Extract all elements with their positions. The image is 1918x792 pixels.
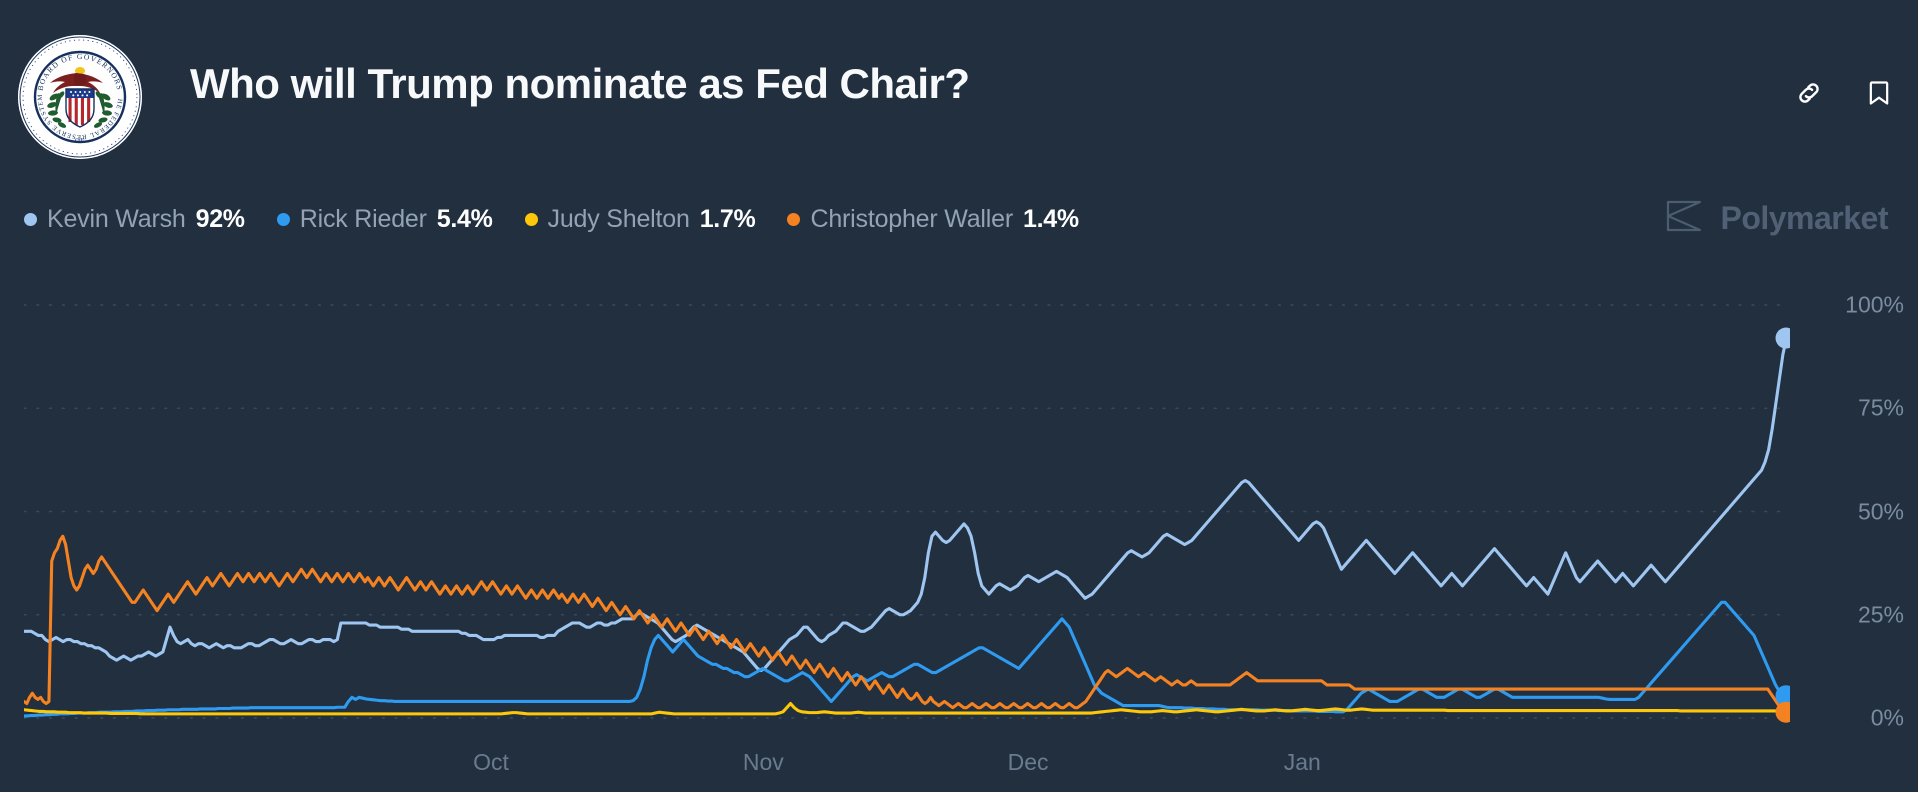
link-icon (1794, 78, 1824, 113)
header-actions (1792, 78, 1896, 112)
legend-value: 1.7% (700, 205, 756, 234)
legend-color-dot (787, 213, 800, 226)
bookmark-icon (1865, 79, 1893, 112)
page-title: Who will Trump nominate as Fed Chair? (190, 60, 970, 108)
federal-reserve-seal-icon: BOARD OF GOVERNORS THE FEDERAL RESERVE S… (18, 35, 142, 159)
bookmark-button[interactable] (1862, 78, 1896, 112)
y-axis-tick-label: 75% (1858, 395, 1904, 422)
x-axis-tick-label: Nov (743, 749, 784, 776)
card-header: BOARD OF GOVERNORS THE FEDERAL RESERVE S… (0, 0, 1918, 160)
y-axis-tick-label: 0% (1871, 705, 1904, 732)
svg-text:OF: OF (75, 137, 85, 144)
x-axis-labels: OctNovDecJan (0, 735, 1918, 785)
legend-color-dot (525, 213, 538, 226)
polymarket-logo-icon (1664, 198, 1704, 239)
legend-value: 1.4% (1023, 205, 1079, 234)
x-axis-tick-label: Dec (1008, 749, 1049, 776)
series-line-christopher-waller (24, 536, 1790, 712)
legend-value: 5.4% (437, 205, 493, 234)
y-axis-tick-label: 50% (1858, 498, 1904, 525)
legend: Kevin Warsh92%Rick Rieder5.4%Judy Shelto… (24, 205, 1111, 234)
series-endpoint-kevin-warsh (1776, 328, 1791, 349)
legend-item-rick-rieder[interactable]: Rick Rieder5.4% (277, 205, 493, 234)
x-axis-tick-label: Oct (473, 749, 509, 776)
chart-plot[interactable] (24, 240, 1790, 730)
y-axis-labels: 0%25%50%75%100% (1824, 240, 1904, 730)
y-axis-tick-label: 100% (1845, 292, 1904, 319)
y-axis-tick-label: 25% (1858, 601, 1904, 628)
legend-label: Kevin Warsh (47, 205, 186, 234)
polymarket-watermark: Polymarket (1664, 198, 1888, 239)
x-axis-tick-label: Jan (1284, 749, 1321, 776)
legend-value: 92% (196, 205, 245, 234)
legend-label: Rick Rieder (300, 205, 427, 234)
legend-item-kevin-warsh[interactable]: Kevin Warsh92% (24, 205, 245, 234)
price-history-line-chart[interactable] (24, 240, 1790, 730)
legend-item-judy-shelton[interactable]: Judy Shelton1.7% (525, 205, 756, 234)
legend-label: Judy Shelton (548, 205, 690, 234)
polymarket-chart-card: BOARD OF GOVERNORS THE FEDERAL RESERVE S… (0, 0, 1918, 792)
watermark-text: Polymarket (1720, 200, 1888, 237)
series-line-rick-rieder (24, 602, 1790, 716)
legend-color-dot (277, 213, 290, 226)
copy-link-button[interactable] (1792, 78, 1826, 112)
legend-color-dot (24, 213, 37, 226)
series-line-kevin-warsh (24, 338, 1790, 670)
legend-item-christopher-waller[interactable]: Christopher Waller1.4% (787, 205, 1078, 234)
chart-area: 0%25%50%75%100% OctNovDecJan (0, 240, 1918, 792)
legend-label: Christopher Waller (810, 205, 1012, 234)
